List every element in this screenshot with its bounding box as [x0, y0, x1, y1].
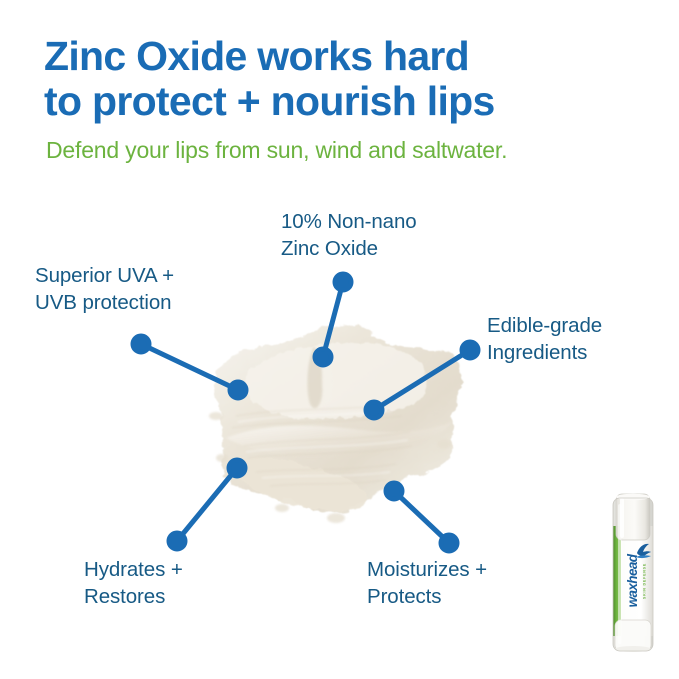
page-subtitle: Defend your lips from sun, wind and salt… [46, 136, 644, 164]
callout-label-edible-grade-ingredients: Edible-grade Ingredients [487, 312, 677, 366]
header-block: Zinc Oxide works hard to protect + nouri… [44, 34, 644, 164]
callout-label-zinc-oxide-percentage: 10% Non-nano Zinc Oxide [281, 208, 501, 262]
svg-text:ZINC OXIDE BALM: ZINC OXIDE BALM [607, 554, 609, 608]
product-infographic: Zinc Oxide works hard to protect + nouri… [0, 0, 679, 679]
callout-label-hydrates-restores: Hydrates + Restores [84, 556, 284, 610]
callout-label-moisturizes-protects: Moisturizes + Protects [367, 556, 587, 610]
callout-label-superior-uva-uvb: Superior UVA + UVB protection [35, 262, 265, 316]
product-tube-image: waxhead SKIN DEFENSE UV DEFENSE ZINC OXI… [607, 492, 659, 657]
balm-smear-image [186, 312, 476, 530]
svg-text:waxhead: waxhead [625, 553, 640, 607]
page-title: Zinc Oxide works hard to protect + nouri… [44, 34, 644, 124]
svg-text:SKIN DEFENSE: SKIN DEFENSE [643, 563, 647, 599]
